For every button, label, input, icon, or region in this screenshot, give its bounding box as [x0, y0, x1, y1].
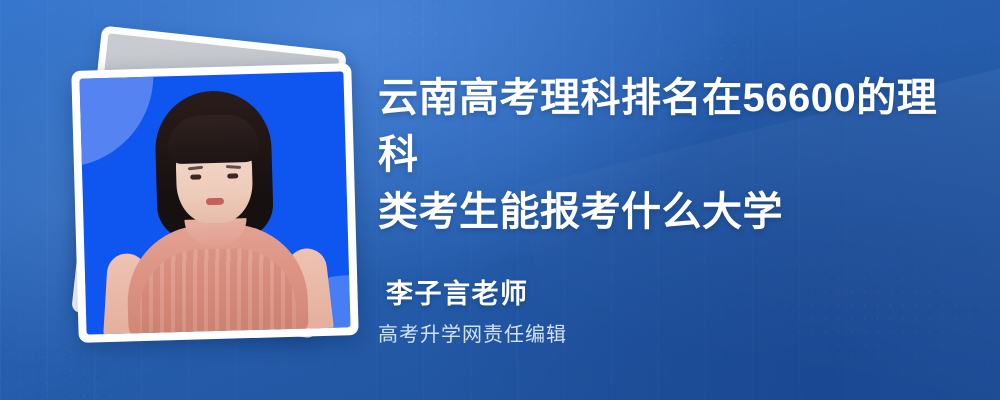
photo-card-front	[71, 63, 358, 343]
page-title: 云南高考理科排名在56600的理科 类考生能报考什么大学	[378, 70, 960, 240]
author-name: 李子言老师	[386, 272, 529, 311]
promo-banner: 云南高考理科排名在56600的理科 类考生能报考什么大学 李子言老师 高考升学网…	[0, 0, 1000, 400]
portrait-illustration	[79, 71, 350, 334]
avatar	[79, 71, 350, 334]
portrait-eye-right	[227, 173, 238, 178]
author-role: 高考升学网责任编辑	[378, 318, 567, 347]
portrait-eye-left	[190, 174, 201, 179]
banner-text-column: 云南高考理科排名在56600的理科 类考生能报考什么大学 李子言老师 高考升学网…	[378, 0, 960, 400]
page-title-line-1: 云南高考理科排名在56600的理科	[378, 70, 960, 184]
page-title-line-2: 类考生能报考什么大学	[378, 184, 960, 241]
portrait-mouth	[206, 198, 224, 205]
portrait-hair-front	[167, 114, 260, 165]
photo-card-stack	[50, 30, 360, 370]
